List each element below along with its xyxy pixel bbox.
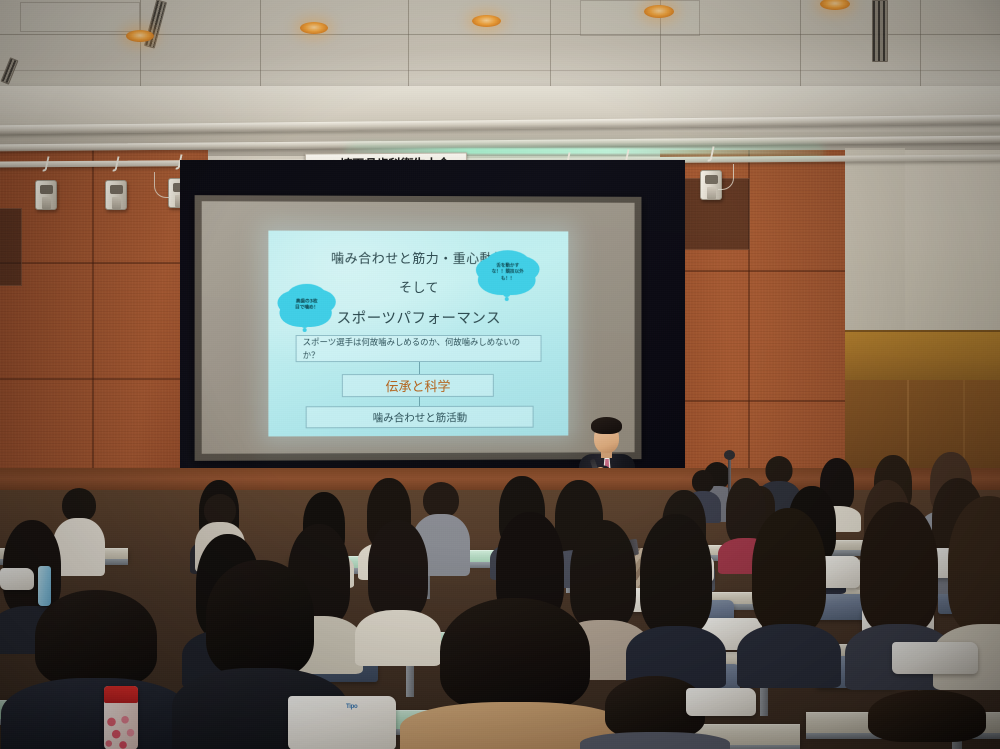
bag-print-text: Tipo [346,704,357,710]
audience-member-foreground [432,598,597,749]
downlight [820,0,850,10]
thought-bubble-right-text: 舌を動かす な！！競技以外 も！！ [478,263,538,282]
slide-middle-box: 伝承と科学 [342,374,494,397]
ceiling-vent-center [872,0,888,62]
ceiling-vent-right [0,57,18,84]
stage-spotlight [35,170,57,210]
downlight [472,15,501,27]
audience-member-foreground [28,590,163,749]
white-plastic-bag-foreground: Tipo [288,696,396,749]
ceiling-vent-left [144,0,167,49]
downlight [126,30,154,42]
thought-bubble-left: 奥歯の3枚 目で噛め！ [285,291,329,321]
wainscot-upper [845,330,1000,382]
downlight [644,5,674,18]
white-bag [0,568,34,590]
audience-member [748,508,830,684]
pink-polka-dot-thermos [104,686,138,749]
slide-bottom-box: 噛み合わせと筋活動 [306,406,534,429]
presentation-slide: 噛み合わせと筋力・重心動揺 そして スポーツパフォーマンス 奥歯の3枚 目で噛め… [268,231,568,437]
thought-bubble-left-text: 奥歯の3枚 目で噛め！ [280,299,333,312]
thought-bubble-right: 舌を動かす な！！競技以外 も！！ [483,257,533,289]
audience-member-foreground [862,690,992,749]
white-bag [686,688,756,716]
white-bag [892,642,978,674]
stage-spotlight [700,160,722,200]
downlight [300,22,328,34]
blue-water-bottle [38,566,51,606]
wall-dark-panel-left [0,208,22,286]
slide-question-box: スポーツ選手は何故噛みしめるのか、何故噛みしめないのか？ [296,335,542,362]
stage-spotlight [105,170,127,210]
audience-member [364,520,432,662]
lecture-hall-photo: 公社 埼玉県歯科衛生士会 噛み合わせと筋力・重心動揺 そして スポーツパフォーマ… [0,0,1000,749]
audience-member [58,488,100,574]
audience-member [636,514,716,684]
